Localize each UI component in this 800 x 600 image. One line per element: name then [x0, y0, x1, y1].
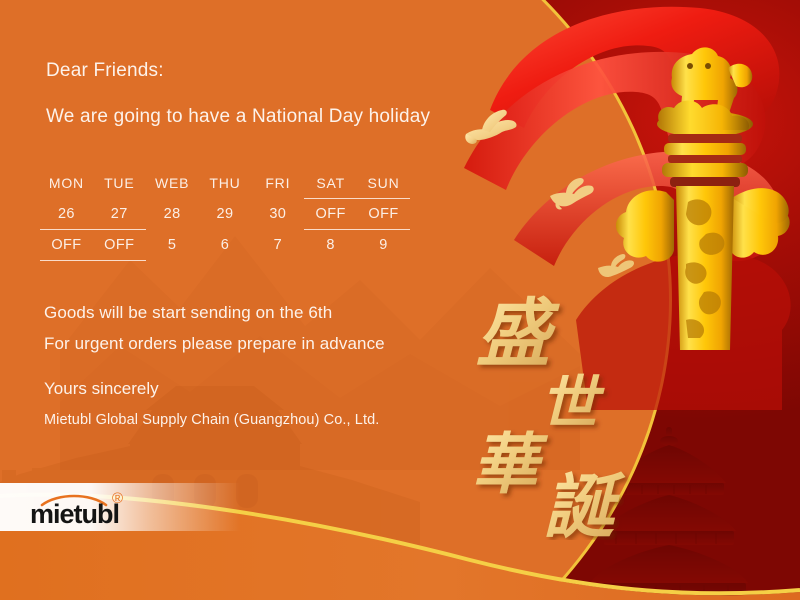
calendar-cell-w1-fri: 30	[251, 199, 304, 230]
calendar-table: MON TUE WEB THU FRI SAT SUN 26 27 28 29 …	[40, 168, 410, 261]
calendar-header-sat: SAT	[304, 168, 357, 199]
calendar-cell-w1-tue: 27	[93, 199, 146, 230]
greeting-line: Dear Friends:	[46, 60, 164, 82]
calendar-cell-w2-sun: 9	[357, 230, 410, 261]
holiday-notice-poster: 盛 世 華 誕 mietubl ® Dear Friends: We are g…	[0, 0, 800, 600]
calendar-cell-w1-sat-off: OFF	[304, 199, 357, 230]
notice-line-2: For urgent orders please prepare in adva…	[44, 334, 385, 354]
intro-line: We are going to have a National Day holi…	[46, 106, 430, 128]
calendar-cell-w1-web: 28	[146, 199, 199, 230]
signoff-line: Yours sincerely	[44, 379, 159, 399]
calendar-header-row: MON TUE WEB THU FRI SAT SUN	[40, 168, 410, 199]
calendar-cell-w2-web: 5	[146, 230, 199, 261]
calendar-cell-w1-sun-off: OFF	[357, 199, 410, 230]
calendar-week-two-row: OFF OFF 5 6 7 8 9	[40, 230, 410, 261]
calendar-header-web: WEB	[146, 168, 199, 199]
letter-content: Dear Friends: We are going to have a Nat…	[0, 0, 800, 600]
calendar-cell-w1-mon: 26	[40, 199, 93, 230]
calendar-header-mon: MON	[40, 168, 93, 199]
calendar-cell-w2-mon-off: OFF	[40, 230, 93, 261]
calendar-cell-w2-thu: 6	[199, 230, 252, 261]
calendar-header-thu: THU	[199, 168, 252, 199]
notice-line-1: Goods will be start sending on the 6th	[44, 303, 332, 323]
calendar-header-tue: TUE	[93, 168, 146, 199]
calendar-header-sun: SUN	[357, 168, 410, 199]
company-name: Mietubl Global Supply Chain (Guangzhou) …	[44, 412, 379, 428]
calendar-header-fri: FRI	[251, 168, 304, 199]
calendar-cell-w2-fri: 7	[251, 230, 304, 261]
calendar-week-one-row: 26 27 28 29 30 OFF OFF	[40, 199, 410, 230]
calendar-cell-w2-sat: 8	[304, 230, 357, 261]
calendar-cell-w2-tue-off: OFF	[93, 230, 146, 261]
calendar-cell-w1-thu: 29	[199, 199, 252, 230]
holiday-calendar: MON TUE WEB THU FRI SAT SUN 26 27 28 29 …	[40, 168, 410, 261]
